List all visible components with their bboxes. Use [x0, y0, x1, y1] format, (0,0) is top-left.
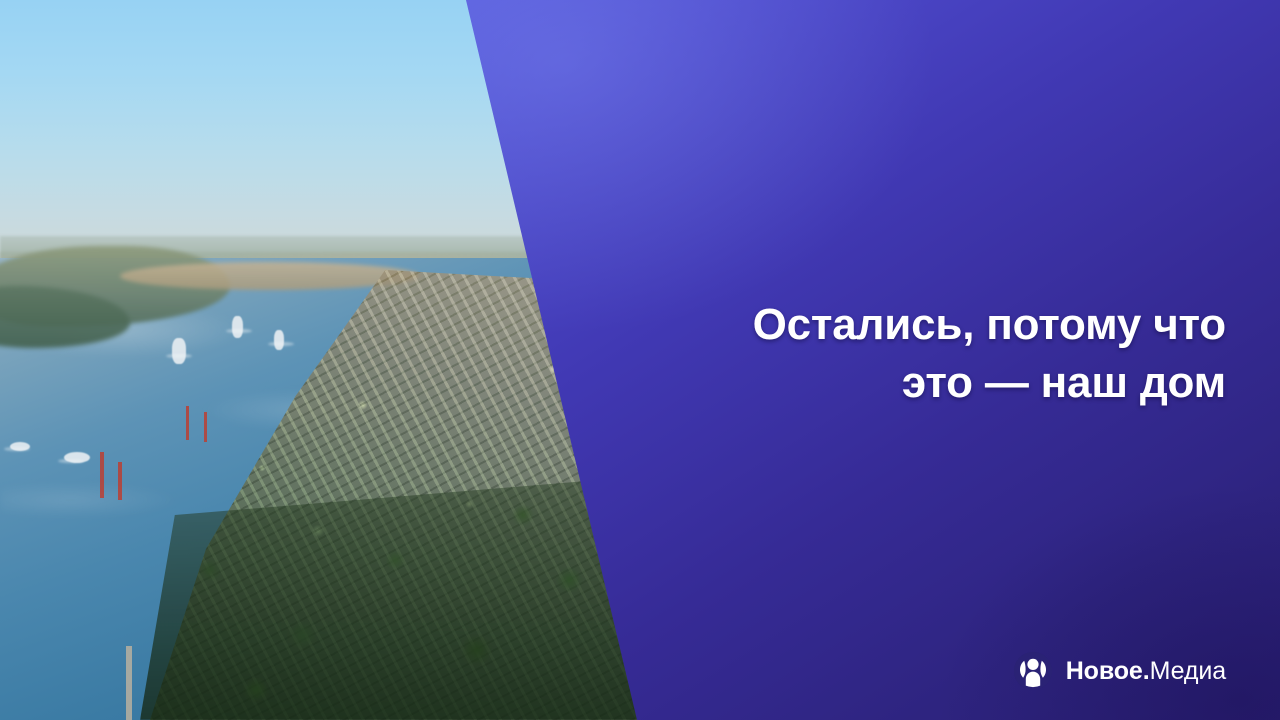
ship-1: [64, 452, 90, 463]
ship-3: [172, 338, 186, 364]
port-crane-3: [186, 406, 189, 440]
ship-4: [232, 316, 243, 338]
brand-logo[interactable]: Новое.Медиа: [1014, 652, 1226, 690]
ship-2: [10, 442, 30, 451]
people-group-circle-icon: [1014, 652, 1052, 690]
port-crane-2: [118, 462, 122, 500]
ship-5: [274, 330, 284, 350]
video-frame: Остались, потому что это — наш дом Новое…: [0, 0, 1280, 720]
brand-name-light: Медиа: [1150, 657, 1226, 685]
brand-name-bold: Новое.: [1066, 657, 1150, 685]
smokestack: [126, 646, 132, 720]
brand-logo-text: Новое.Медиа: [1066, 659, 1226, 684]
port-crane-4: [204, 412, 207, 442]
headline-text: Остались, потому что это — наш дом: [606, 296, 1226, 412]
port-crane-1: [100, 452, 104, 498]
